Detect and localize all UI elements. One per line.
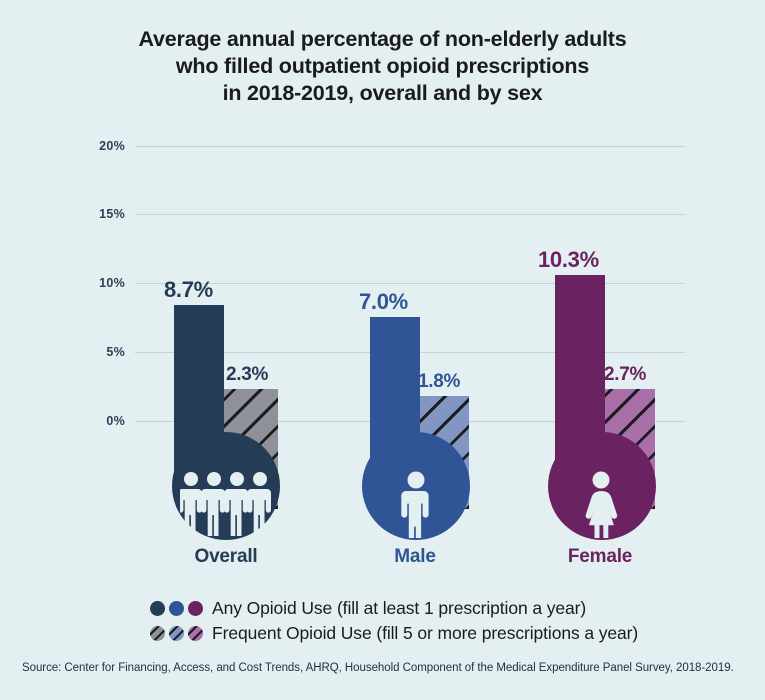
bar-female-any bbox=[555, 275, 605, 487]
opioid-prescriptions-chart: Average annual percentage of non-elderly… bbox=[0, 0, 765, 700]
value-overall-frequent: 2.3% bbox=[226, 364, 268, 386]
group-male: 7.0% 1.8% Male bbox=[315, 0, 515, 700]
bar-male-any bbox=[370, 317, 420, 487]
legend-label-frequent: Frequent Opioid Use (fill 5 or more pres… bbox=[212, 623, 638, 644]
legend-swatches-frequent bbox=[150, 626, 212, 641]
bar-overall-any bbox=[174, 305, 224, 485]
y-axis-tick-15: 15% bbox=[60, 207, 125, 221]
legend-label-any: Any Opioid Use (fill at least 1 prescrip… bbox=[212, 598, 586, 619]
legend: Any Opioid Use (fill at least 1 prescrip… bbox=[150, 596, 750, 646]
legend-item-any-opioid-use: Any Opioid Use (fill at least 1 prescrip… bbox=[150, 596, 750, 621]
value-overall-any: 8.7% bbox=[164, 277, 213, 303]
category-label-overall: Overall bbox=[126, 546, 326, 568]
value-male-any: 7.0% bbox=[359, 289, 408, 315]
legend-item-frequent-opioid-use: Frequent Opioid Use (fill 5 or more pres… bbox=[150, 621, 750, 646]
group-female: 10.3% 2.7% Female bbox=[500, 0, 700, 700]
plot-area: 20% 15% 10% 5% 0% bbox=[0, 0, 765, 700]
legend-swatch-female-any bbox=[188, 601, 203, 616]
y-axis-tick-10: 10% bbox=[60, 276, 125, 290]
category-label-male: Male bbox=[315, 546, 515, 568]
category-label-female: Female bbox=[500, 546, 700, 568]
source-note: Source: Center for Financing, Access, an… bbox=[22, 662, 734, 674]
y-axis-tick-0: 0% bbox=[60, 414, 125, 428]
value-male-frequent: 1.8% bbox=[418, 371, 460, 393]
y-axis-tick-20: 20% bbox=[60, 139, 125, 153]
legend-swatch-overall-any bbox=[150, 601, 165, 616]
group-overall: 8.7% 2.3% Overall bbox=[126, 0, 326, 700]
female-figure-icon bbox=[580, 470, 622, 538]
legend-swatches-any bbox=[150, 601, 212, 616]
legend-swatch-female-frequent bbox=[188, 626, 203, 641]
legend-swatch-male-any bbox=[169, 601, 184, 616]
value-female-frequent: 2.7% bbox=[604, 364, 646, 386]
male-figure-icon bbox=[397, 470, 435, 538]
legend-swatch-male-frequent bbox=[169, 626, 184, 641]
value-female-any: 10.3% bbox=[538, 247, 599, 273]
y-axis-tick-5: 5% bbox=[60, 345, 125, 359]
legend-swatch-overall-frequent bbox=[150, 626, 165, 641]
people-group-icon bbox=[180, 470, 274, 538]
